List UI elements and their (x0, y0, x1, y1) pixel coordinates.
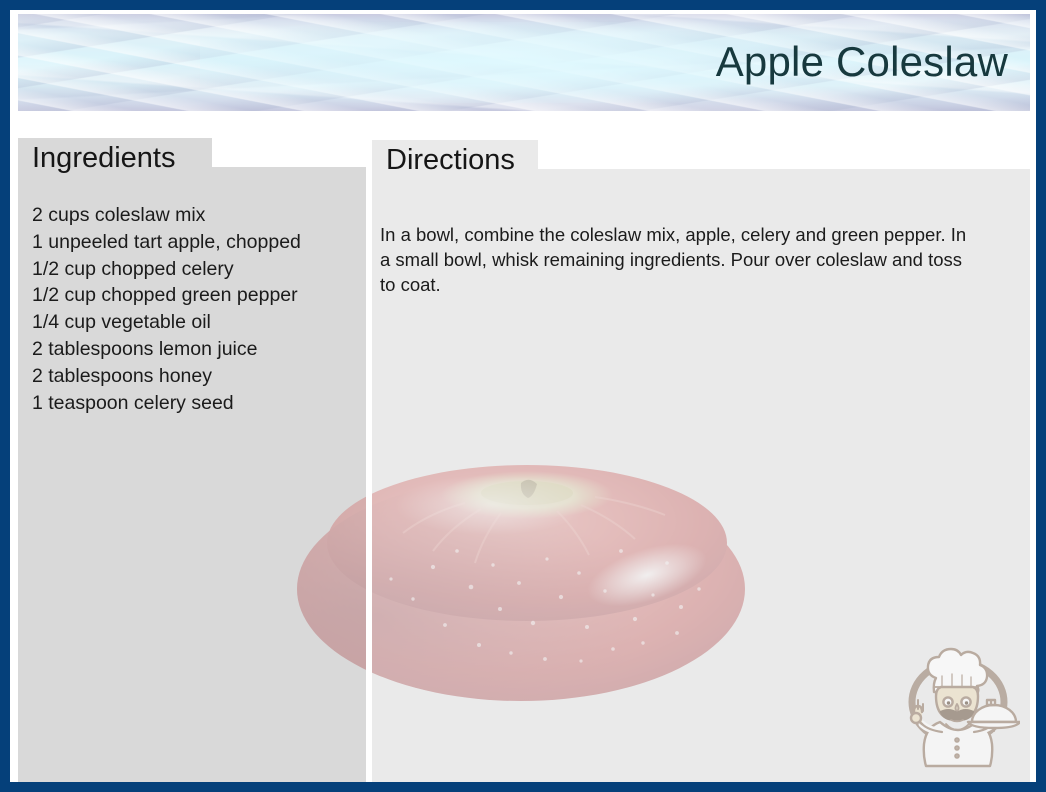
panel-seam (366, 169, 372, 787)
directions-heading: Directions (386, 146, 515, 175)
tab-directions[interactable]: Directions (372, 140, 538, 180)
list-item: 1/4 cup vegetable oil (32, 309, 362, 336)
list-item: 1/2 cup chopped celery (32, 256, 362, 283)
list-item: 2 cups coleslaw mix (32, 202, 362, 229)
list-item: 1 teaspoon celery seed (32, 390, 362, 417)
list-item: 2 tablespoons honey (32, 363, 362, 390)
ingredients-heading: Ingredients (32, 144, 176, 173)
recipe-card: Apple Coleslaw (0, 0, 1046, 792)
title-banner: Apple Coleslaw (18, 14, 1030, 111)
page-title: Apple Coleslaw (716, 41, 1008, 83)
tab-ingredients[interactable]: Ingredients (18, 138, 212, 178)
ingredients-list: 2 cups coleslaw mix 1 unpeeled tart appl… (32, 202, 362, 416)
list-item: 1 unpeeled tart apple, chopped (32, 229, 362, 256)
list-item: 1/2 cup chopped green pepper (32, 282, 362, 309)
directions-text: In a bowl, combine the coleslaw mix, app… (380, 222, 980, 297)
list-item: 2 tablespoons lemon juice (32, 336, 362, 363)
